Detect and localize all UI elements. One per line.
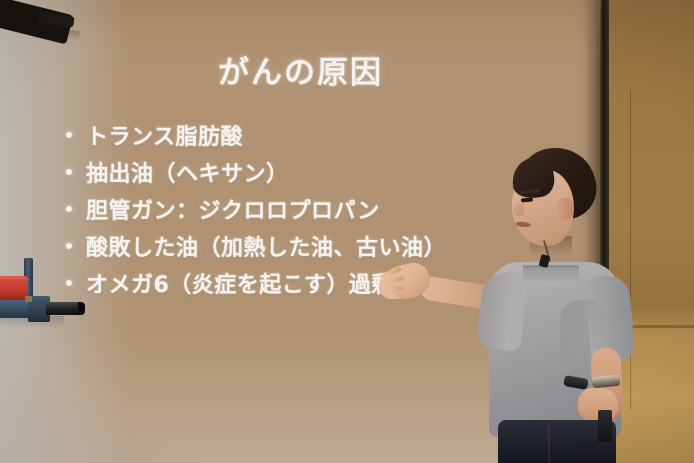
presenter-shirt-collar: [523, 265, 579, 286]
presenter-nose: [513, 203, 524, 216]
mic-transmitter-pack: [598, 410, 612, 442]
presenter-left-shoulder: [476, 270, 528, 352]
presenter-figure: [0, 0, 694, 463]
presenter-pants-seam: [548, 424, 550, 463]
presenter-finger: [382, 294, 404, 300]
presentation-photo-scene: がんの原因 トランス脂肪酸 抽出油（ヘキサン） 胆管ガン：ジクロロプロパン 酸敗…: [0, 0, 694, 463]
presenter-ear: [558, 198, 574, 220]
